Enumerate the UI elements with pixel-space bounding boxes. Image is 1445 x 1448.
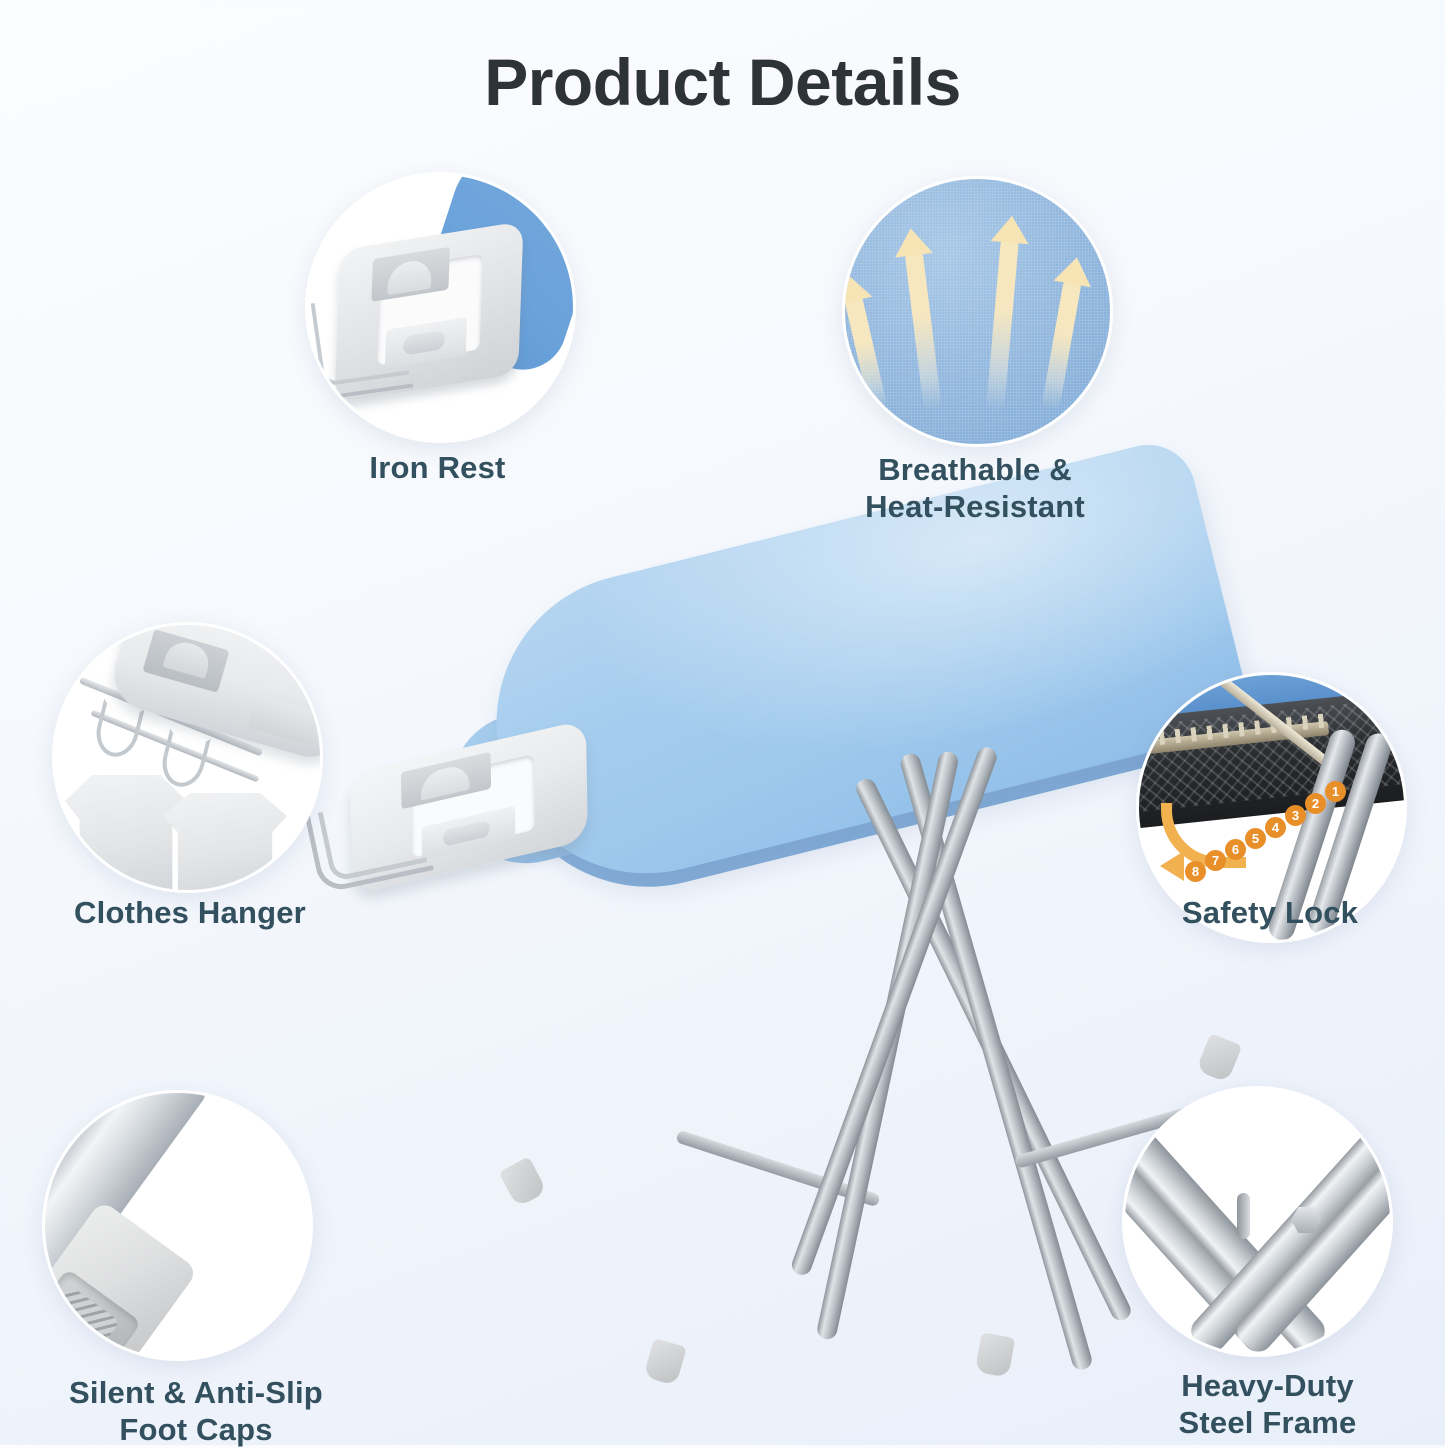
hanging-garment [65, 775, 187, 893]
height-position-badge: 6 [1225, 839, 1246, 860]
board-end-underside [106, 622, 323, 766]
height-position-badge: 5 [1245, 828, 1266, 849]
arrow-head [892, 226, 933, 257]
arrow-head [1054, 254, 1096, 287]
height-position-badge: 7 [1205, 850, 1226, 871]
callout-label-safety-lock: Safety Lock [1115, 895, 1425, 932]
hanger-wire-inner [311, 291, 410, 386]
height-position-badge: 4 [1265, 817, 1286, 838]
crossed-steel-tubes-icon [1122, 1086, 1393, 1357]
callout-label-foot-caps: Silent & Anti-Slip Foot Caps [0, 1375, 396, 1448]
arrow-head [842, 270, 872, 305]
steam-arrow [1050, 254, 1077, 410]
steam-arrow [848, 274, 879, 410]
arrow-shaft [986, 236, 1019, 411]
foot-cap [975, 1332, 1015, 1377]
steam-arrows-icon [842, 176, 1113, 447]
foot-cap [643, 1338, 687, 1386]
hanging-garment [163, 793, 287, 893]
callout-label-clothes-hanger: Clothes Hanger [0, 895, 390, 932]
height-position-badge: 8 [1185, 861, 1206, 882]
callout-label-iron-rest: Iron Rest [245, 450, 630, 487]
height-position-badge: 3 [1285, 805, 1306, 826]
height-position-badge: 1 [1325, 781, 1346, 802]
arrow-shaft [1041, 276, 1082, 411]
steam-arrow [995, 211, 1012, 410]
callout-label-steel-frame: Heavy-Duty Steel Frame [1090, 1368, 1445, 1441]
arrow-shaft [844, 293, 888, 412]
iron-rest-icon [305, 172, 576, 443]
steam-arrow [910, 223, 933, 410]
foot-cap-icon [42, 1090, 313, 1361]
height-position-badge: 2 [1305, 793, 1326, 814]
foot-cap [1196, 1033, 1243, 1083]
callout-label-breathable: Breathable & Heat-Resistant [780, 452, 1170, 525]
arrow-shaft [904, 248, 942, 411]
pivot-pin [1237, 1193, 1250, 1239]
clothes-hanger-icon [52, 622, 323, 893]
arrow-head [991, 214, 1031, 244]
infographic-canvas: Product Details [0, 0, 1445, 1445]
foot-cap [499, 1156, 548, 1207]
page-title: Product Details [0, 44, 1445, 120]
